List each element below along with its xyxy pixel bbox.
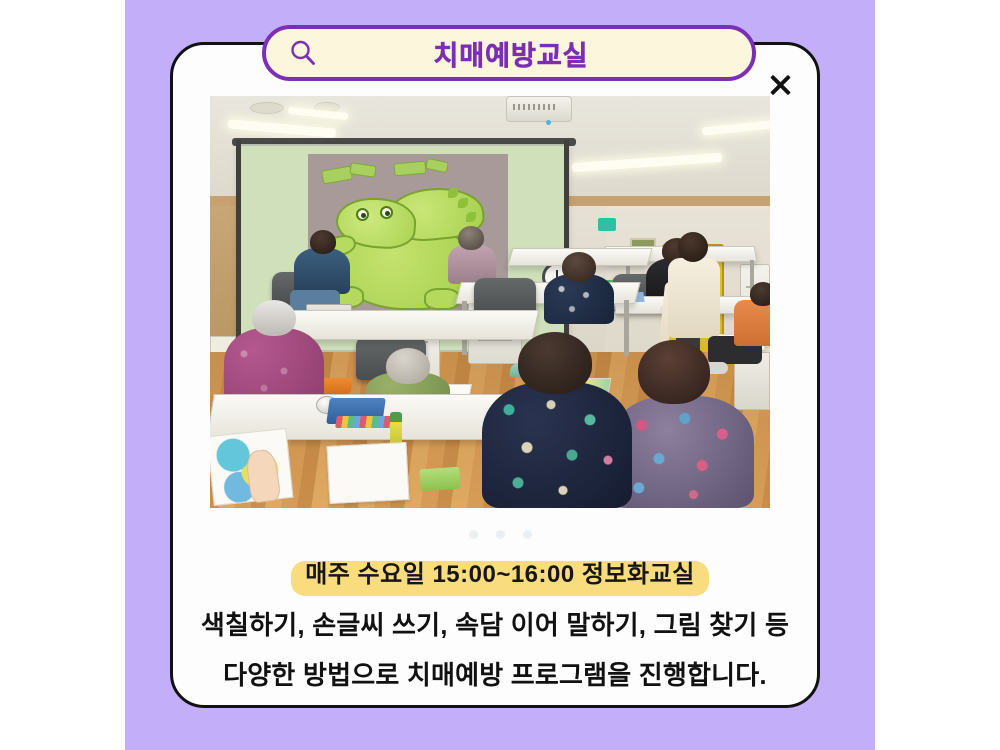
schedule-row: 매주 수요일 15:00~16:00 정보화교실 xyxy=(0,552,1000,592)
carousel-indicators[interactable] xyxy=(0,530,1000,539)
screenshot-root: 치매예방교실 매주 수요일 15:00~16:00 정보화교실 색칠하기, 손글… xyxy=(0,0,1000,750)
page-title: 치매예방교실 xyxy=(318,34,730,73)
schedule-text: 매주 수요일 15:00~16:00 정보화교실 xyxy=(291,552,709,592)
green-worksheet xyxy=(419,467,460,492)
instructor-head xyxy=(678,232,708,262)
description-line-1: 색칠하기, 손글씨 쓰기, 속담 이어 말하기, 그림 찾기 등 xyxy=(178,600,812,650)
participant-head xyxy=(386,348,430,384)
participant-body xyxy=(482,382,632,508)
participant-head xyxy=(638,340,710,404)
carousel-dot[interactable] xyxy=(469,530,478,539)
participant-head xyxy=(518,332,592,394)
participant-head xyxy=(562,252,596,282)
description-line-2: 다양한 방법으로 치매예방 프로그램을 진행합니다. xyxy=(178,650,812,700)
crocodile-spike xyxy=(448,188,458,198)
participant-body xyxy=(294,248,350,294)
screen-edge xyxy=(236,140,241,354)
crayons xyxy=(335,416,395,428)
instructor-body xyxy=(668,258,720,338)
participant-head xyxy=(252,300,296,336)
crocodile-leg xyxy=(424,288,460,310)
carousel-dot[interactable] xyxy=(523,530,532,539)
search-icon xyxy=(288,38,318,68)
projector-led xyxy=(546,120,551,125)
participant-body xyxy=(734,300,770,346)
ceiling-speaker-icon xyxy=(250,102,284,114)
worksheet xyxy=(327,442,410,504)
slide-decor xyxy=(393,161,426,177)
participant-head xyxy=(750,282,770,306)
crocodile-pupil xyxy=(385,211,390,216)
crocodile-spike xyxy=(466,212,476,222)
participant-head xyxy=(310,230,336,254)
crocodile-pupil xyxy=(361,213,366,218)
carousel-dot[interactable] xyxy=(496,530,505,539)
close-icon[interactable] xyxy=(766,71,794,99)
projector xyxy=(506,96,572,122)
activity-photo xyxy=(210,96,770,508)
title-search-pill[interactable]: 치매예방교실 xyxy=(262,25,756,81)
desk xyxy=(273,310,539,340)
desk-leg xyxy=(624,300,629,356)
participant-head xyxy=(458,226,484,250)
description-block: 색칠하기, 손글씨 쓰기, 속담 이어 말하기, 그림 찾기 등 다양한 방법으… xyxy=(178,600,812,700)
exit-sign-icon xyxy=(598,218,616,231)
glue-stick-cap xyxy=(390,412,402,422)
crocodile-spike xyxy=(458,198,468,208)
